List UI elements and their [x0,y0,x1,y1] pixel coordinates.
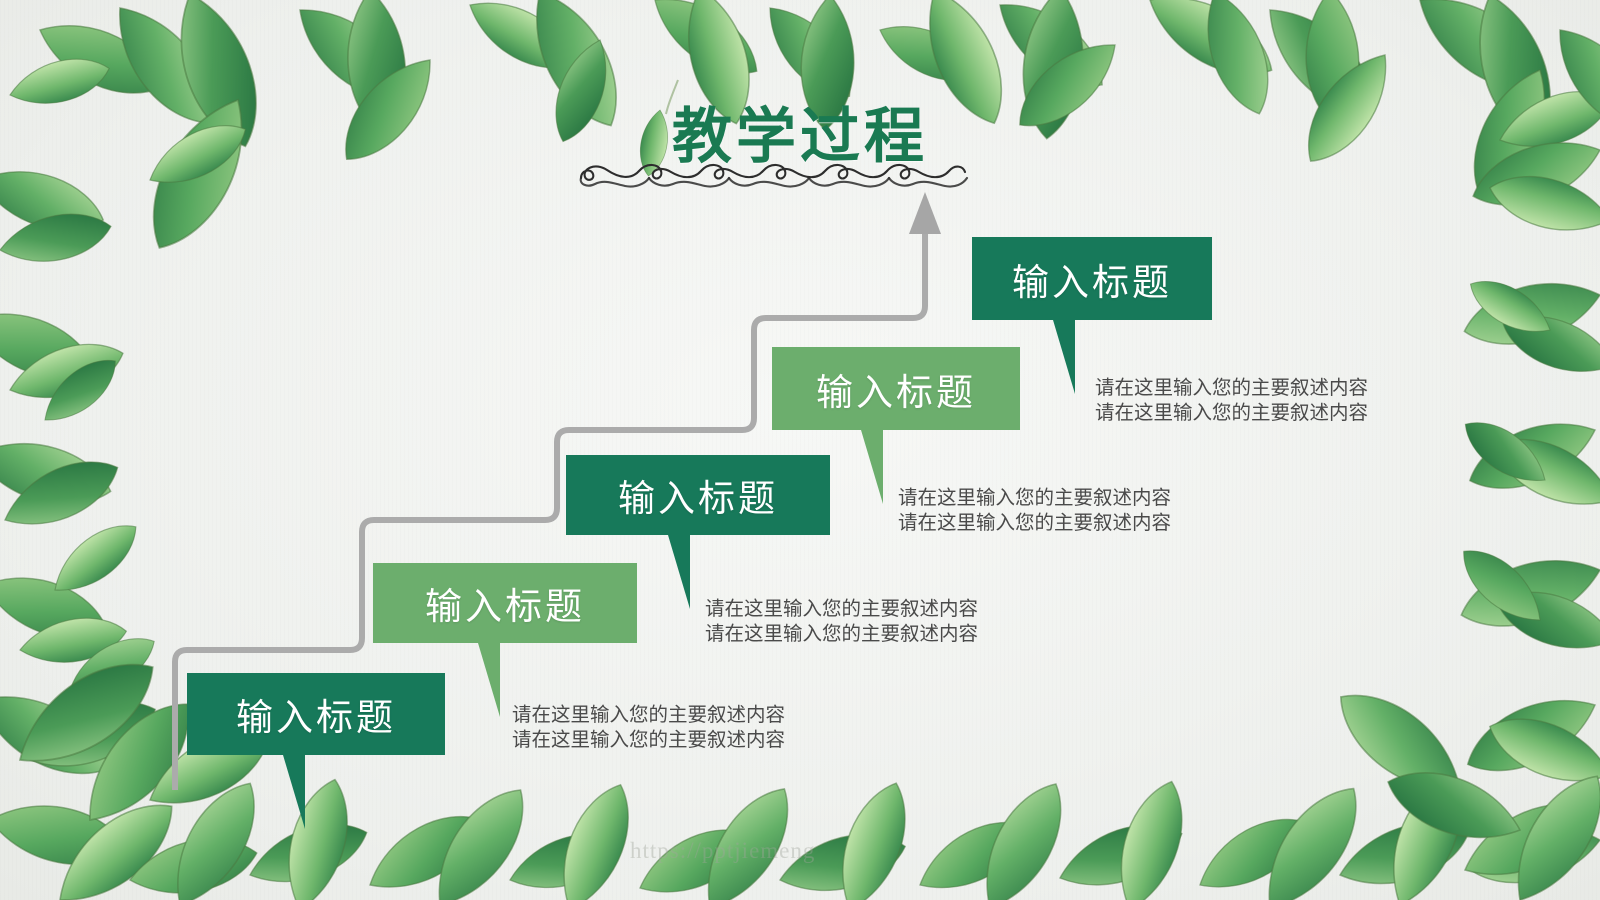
up-arrow-head-icon [909,192,941,234]
step-3-tail [668,535,690,609]
step-2-description: 请在这里输入您的主要叙述内容 请在这里输入您的主要叙述内容 [512,702,785,752]
step-1-card[interactable]: 输入标题 [187,673,445,755]
staircase-connector [0,0,1600,900]
step-5-title: 输入标题 [1012,252,1172,306]
step-4-description: 请在这里输入您的主要叙述内容 请在这里输入您的主要叙述内容 [898,485,1171,535]
step-3-card[interactable]: 输入标题 [566,455,830,535]
step-1-title: 输入标题 [236,687,396,741]
step-3-description: 请在这里输入您的主要叙述内容 请在这里输入您的主要叙述内容 [705,596,978,646]
step-2-line-2: 请在这里输入您的主要叙述内容 [512,727,785,752]
step-4-card[interactable]: 输入标题 [772,347,1020,430]
step-2-card[interactable]: 输入标题 [373,563,637,643]
step-5-line-1: 请在这里输入您的主要叙述内容 [1095,375,1368,400]
step-2-title: 输入标题 [425,576,585,630]
step-3-line-2: 请在这里输入您的主要叙述内容 [705,621,978,646]
step-3-line-1: 请在这里输入您的主要叙述内容 [705,596,978,621]
step-5-line-2: 请在这里输入您的主要叙述内容 [1095,400,1368,425]
step-4-tail [861,430,883,504]
slide-canvas: 教学过程 输入标题 请在这里输入您的主要叙述内容 请在这里输入您的主要叙述内容 [0,0,1600,900]
step-2-tail [478,643,500,717]
step-3-title: 输入标题 [618,468,778,522]
step-2-line-1: 请在这里输入您的主要叙述内容 [512,702,785,727]
step-1-tail [283,755,305,829]
step-4-title: 输入标题 [816,362,976,416]
step-4-line-2: 请在这里输入您的主要叙述内容 [898,510,1171,535]
watermark: https://pptjiemeng [630,838,815,864]
step-5-card[interactable]: 输入标题 [972,237,1212,320]
step-5-description: 请在这里输入您的主要叙述内容 请在这里输入您的主要叙述内容 [1095,375,1368,425]
step-5-tail [1053,320,1075,394]
step-4-line-1: 请在这里输入您的主要叙述内容 [898,485,1171,510]
